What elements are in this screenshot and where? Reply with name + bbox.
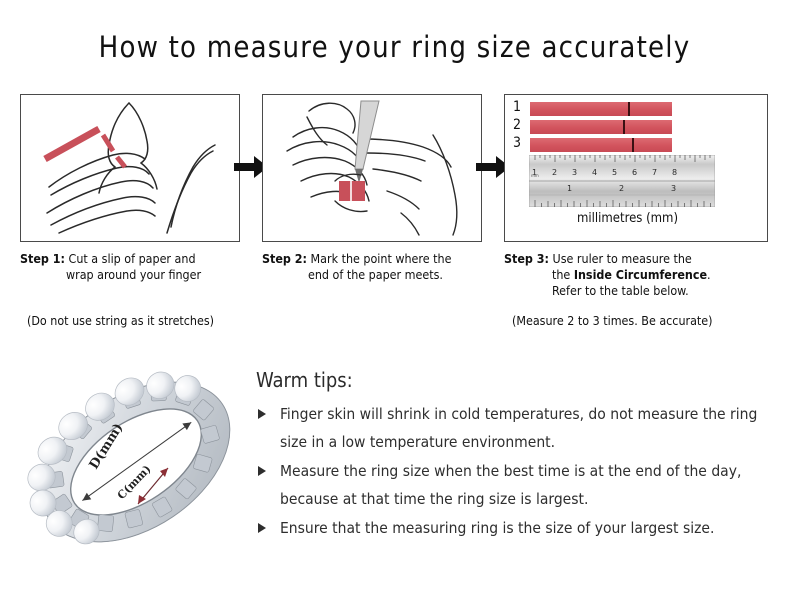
- step-3-label: Step 3:: [504, 251, 549, 266]
- step-3-line2-prefix: the: [552, 267, 574, 282]
- bullet-triangle-icon: [258, 523, 266, 533]
- step-3-line2-suffix: .: [707, 267, 711, 282]
- svg-text:3: 3: [671, 184, 676, 193]
- step-1-label: Step 1:: [20, 251, 65, 266]
- hand-with-paper-strip-icon: [21, 95, 237, 239]
- strip-number-3: 3: [513, 135, 521, 151]
- paper-strip-2: [530, 120, 672, 134]
- tip-text: Finger skin will shrink in cold temperat…: [280, 405, 757, 451]
- tip-item: Ensure that the measuring ring is the si…: [256, 514, 761, 542]
- svg-text:6: 6: [632, 168, 637, 177]
- ring-diagram: D(mm) C(mm): [18, 352, 254, 572]
- step-1-illustration-panel: [20, 94, 240, 242]
- step-2-line2: end of the paper meets.: [262, 267, 498, 283]
- svg-text:4: 4: [592, 168, 597, 177]
- tip-text: Measure the ring size when the best time…: [280, 462, 741, 508]
- page-title: How to measure your ring size accurately: [0, 30, 789, 64]
- step-3-ruler-panel: 1 2 3: [504, 94, 768, 242]
- paper-strip-1: [530, 102, 672, 116]
- paper-strip-3: [530, 138, 672, 152]
- step-2-label: Step 2:: [262, 251, 307, 266]
- strip-number-1: 1: [513, 99, 521, 115]
- warm-tips-heading: Warm tips:: [256, 368, 353, 392]
- step-1-caption: Step 1: Cut a slip of paper and wrap aro…: [20, 251, 256, 283]
- tip-item: Measure the ring size when the best time…: [256, 457, 761, 513]
- step-3-note: (Measure 2 to 3 times. Be accurate): [512, 313, 713, 328]
- svg-text:5: 5: [612, 168, 617, 177]
- step-2-caption: Step 2: Mark the point where the end of …: [262, 251, 498, 283]
- ruler-icon: 123 456 78 mm 123: [529, 155, 715, 207]
- hand-marking-paper-icon: [263, 95, 479, 239]
- warm-tips-list: Finger skin will shrink in cold temperat…: [256, 400, 761, 543]
- step-1-note: (Do not use string as it stretches): [27, 313, 214, 328]
- step-2-illustration-panel: [262, 94, 482, 242]
- strip-mark-3: [632, 138, 634, 152]
- svg-text:7: 7: [652, 168, 657, 177]
- svg-text:1: 1: [567, 184, 572, 193]
- svg-text:2: 2: [619, 184, 624, 193]
- step-1-line1: Cut a slip of paper and: [69, 251, 196, 266]
- svg-text:3: 3: [572, 168, 577, 177]
- step-2-line1: Mark the point where the: [311, 251, 452, 266]
- step-3-emphasis: Inside Circumference: [574, 267, 707, 282]
- svg-text:2: 2: [552, 168, 557, 177]
- strip-mark-1: [628, 102, 630, 116]
- tip-item: Finger skin will shrink in cold temperat…: [256, 400, 761, 456]
- bullet-triangle-icon: [258, 409, 266, 419]
- ruler-unit-label: millimetres (mm): [577, 211, 678, 226]
- step-3-caption: Step 3: Use ruler to measure the the Ins…: [504, 251, 770, 299]
- strip-number-2: 2: [513, 117, 521, 133]
- svg-text:8: 8: [672, 168, 677, 177]
- svg-text:mm: mm: [531, 173, 539, 178]
- step-3-line2: the Inside Circumference.: [504, 267, 770, 283]
- strip-mark-2: [623, 120, 625, 134]
- step-3-line3: Refer to the table below.: [504, 283, 770, 299]
- ring-size-guide: How to measure your ring size accurately: [0, 0, 789, 606]
- tip-text: Ensure that the measuring ring is the si…: [280, 519, 714, 537]
- step-3-line1: Use ruler to measure the: [553, 251, 692, 266]
- bullet-triangle-icon: [258, 466, 266, 476]
- step-1-line2: wrap around your finger: [20, 267, 256, 283]
